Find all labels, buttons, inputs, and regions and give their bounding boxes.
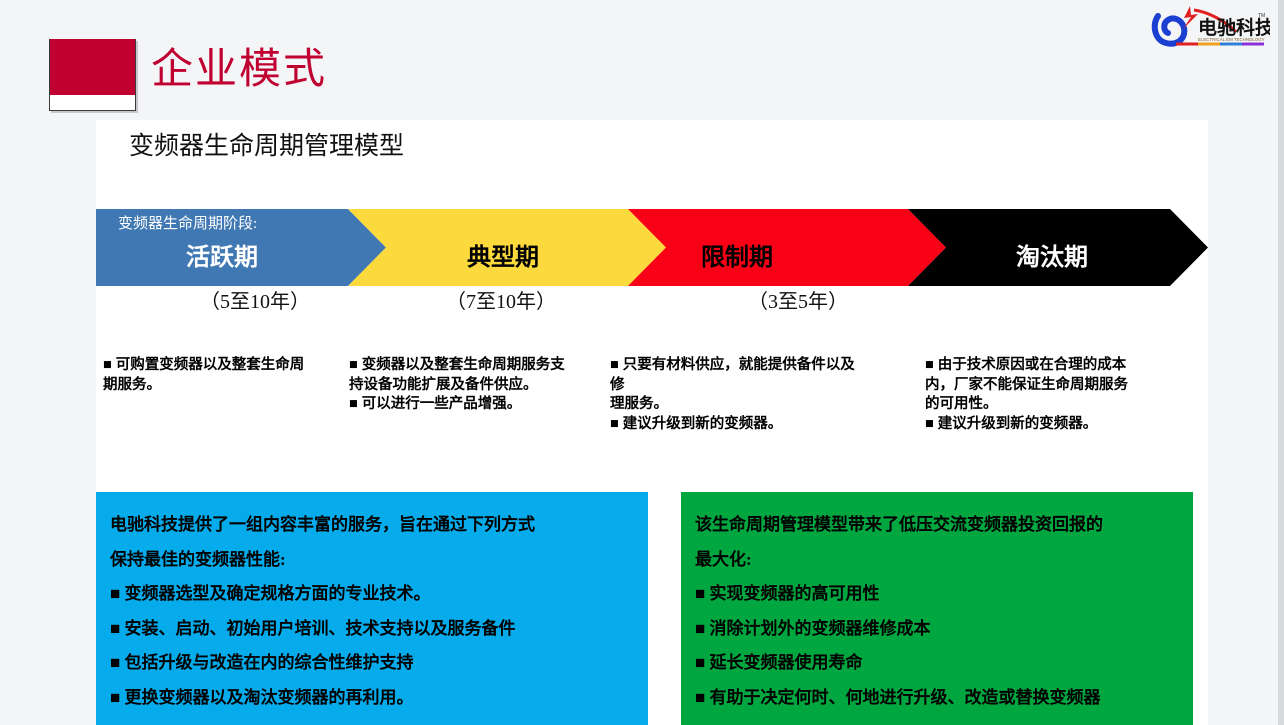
vertical-scrollbar[interactable] (1278, 0, 1284, 725)
stage-note-line: 的可用性。 (925, 395, 1175, 415)
stage-note-line: ■ 由于技术原因或在合理的成本 (925, 356, 1175, 376)
services-box-blue-item: ■ 更换变频器以及淘汰变频器的再利用。 (110, 681, 634, 716)
svg-text:TM: TM (1258, 13, 1265, 19)
slide-header: 企业模式 电驰科技 ELECTRICAL EM TECHNOLOGY TM (0, 0, 1278, 120)
stage-label-active: 活跃期 (96, 241, 386, 275)
svg-text:电驰科技: 电驰科技 (1198, 16, 1270, 39)
benefits-box-green-item: ■ 实现变频器的高可用性 (695, 577, 1179, 612)
stage-duration-classic: （7至10年） (446, 286, 556, 318)
stage-note-line: 持设备功能扩展及备件供应。 (349, 376, 599, 396)
stage-note-line: ■ 可购置变频器以及整套生命周 (103, 356, 343, 376)
stage-label-obsolete: 淘汰期 (908, 241, 1208, 275)
services-box-blue-headline: 电驰科技提供了一组内容丰富的服务，旨在通过下列方式 保持最佳的变频器性能: (110, 508, 634, 577)
benefits-box-green-item: ■ 有助于决定何时、何地进行升级、改造或替换变频器 (695, 681, 1179, 716)
svg-text:ELECTRICAL EM TECHNOLOGY: ELECTRICAL EM TECHNOLOGY (1198, 37, 1265, 42)
stage-label-classic: 典型期 (348, 241, 666, 275)
benefits-box-green-item: ■ 消除计划外的变频器维修成本 (695, 612, 1179, 647)
swatch-base (50, 95, 135, 110)
stage-note-line: ■ 建议升级到新的变频器。 (610, 415, 860, 435)
stage-notes-obsolete: ■ 由于技术原因或在合理的成本 内，厂家不能保证生命周期服务 的可用性。 ■ 建… (925, 356, 1175, 434)
content-panel: 变频器生命周期管理模型 变频器生命周期阶段: 活跃期 典型期 限制期 淘汰期 （… (96, 120, 1208, 725)
stage-durations: （5至10年） （7至10年） （3至5年） (96, 286, 1208, 320)
panel-heading: 变频器生命周期管理模型 (129, 130, 404, 164)
services-box-blue-item: ■ 包括升级与改造在内的综合性维护支持 (110, 646, 634, 681)
stage-note-line: ■ 可以进行一些产品增强。 (349, 395, 599, 415)
stage-note-line: ■ 建议升级到新的变频器。 (925, 415, 1175, 435)
swatch-fill (50, 39, 135, 96)
benefits-box-green-headline-line2: 最大化: (695, 543, 1179, 578)
stage-note-line: 理服务。 (610, 395, 860, 415)
stage-note-line: ■ 只要有材料供应，就能提供备件以及修 (610, 356, 860, 395)
stage-note-line: 期服务。 (103, 376, 343, 396)
benefits-box-green-headline: 该生命周期管理模型带来了低压交流变频器投资回报的 最大化: (695, 508, 1179, 577)
stage-chevron-classic[interactable]: 典型期 (348, 209, 666, 286)
stage-chevron-obsolete[interactable]: 淘汰期 (908, 209, 1208, 286)
lifecycle-chevron-band: 变频器生命周期阶段: 活跃期 典型期 限制期 淘汰期 (96, 209, 1208, 286)
services-box-blue-item: ■ 变频器选型及确定规格方面的专业技术。 (110, 577, 634, 612)
stage-chevron-limited[interactable]: 限制期 (628, 209, 946, 286)
stage-notes-columns: ■ 可购置变频器以及整套生命周 期服务。 ■ 变频器以及整套生命周期服务支 持设… (96, 356, 1208, 466)
stage-duration-limited: （3至5年） (748, 286, 848, 318)
services-box-blue-headline-line2: 保持最佳的变频器性能: (110, 543, 634, 578)
stage-notes-classic: ■ 变频器以及整套生命周期服务支 持设备功能扩展及备件供应。 ■ 可以进行一些产… (349, 356, 599, 415)
stage-notes-limited: ■ 只要有材料供应，就能提供备件以及修 理服务。 ■ 建议升级到新的变频器。 (610, 356, 860, 434)
services-box-blue-headline-line1: 电驰科技提供了一组内容丰富的服务，旨在通过下列方式 (110, 508, 634, 543)
stage-note-line: ■ 变频器以及整套生命周期服务支 (349, 356, 599, 376)
brand-logo: 电驰科技 ELECTRICAL EM TECHNOLOGY TM (1150, 2, 1270, 52)
services-box-blue: 电驰科技提供了一组内容丰富的服务，旨在通过下列方式 保持最佳的变频器性能: ■ … (96, 492, 648, 725)
stage-band-label: 变频器生命周期阶段: (118, 214, 257, 234)
benefits-box-green: 该生命周期管理模型带来了低压交流变频器投资回报的 最大化: ■ 实现变频器的高可… (681, 492, 1193, 725)
stage-label-limited: 限制期 (628, 241, 946, 275)
services-box-blue-item: ■ 安装、启动、初始用户培训、技术支持以及服务备件 (110, 612, 634, 647)
stage-notes-active: ■ 可购置变频器以及整套生命周 期服务。 (103, 356, 343, 395)
page-title: 企业模式 (151, 40, 327, 98)
benefits-box-green-headline-line1: 该生命周期管理模型带来了低压交流变频器投资回报的 (695, 508, 1179, 543)
title-accent-swatch (49, 39, 136, 111)
benefits-box-green-item: ■ 延长变频器使用寿命 (695, 646, 1179, 681)
slide-canvas: 企业模式 电驰科技 ELECTRICAL EM TECHNOLOGY TM 变频… (0, 0, 1284, 725)
stage-duration-active: （5至10年） (200, 286, 310, 318)
stage-chevron-active[interactable]: 变频器生命周期阶段: 活跃期 (96, 209, 386, 286)
brand-logo-icon: 电驰科技 ELECTRICAL EM TECHNOLOGY TM (1150, 2, 1270, 52)
stage-note-line: 内，厂家不能保证生命周期服务 (925, 376, 1175, 396)
